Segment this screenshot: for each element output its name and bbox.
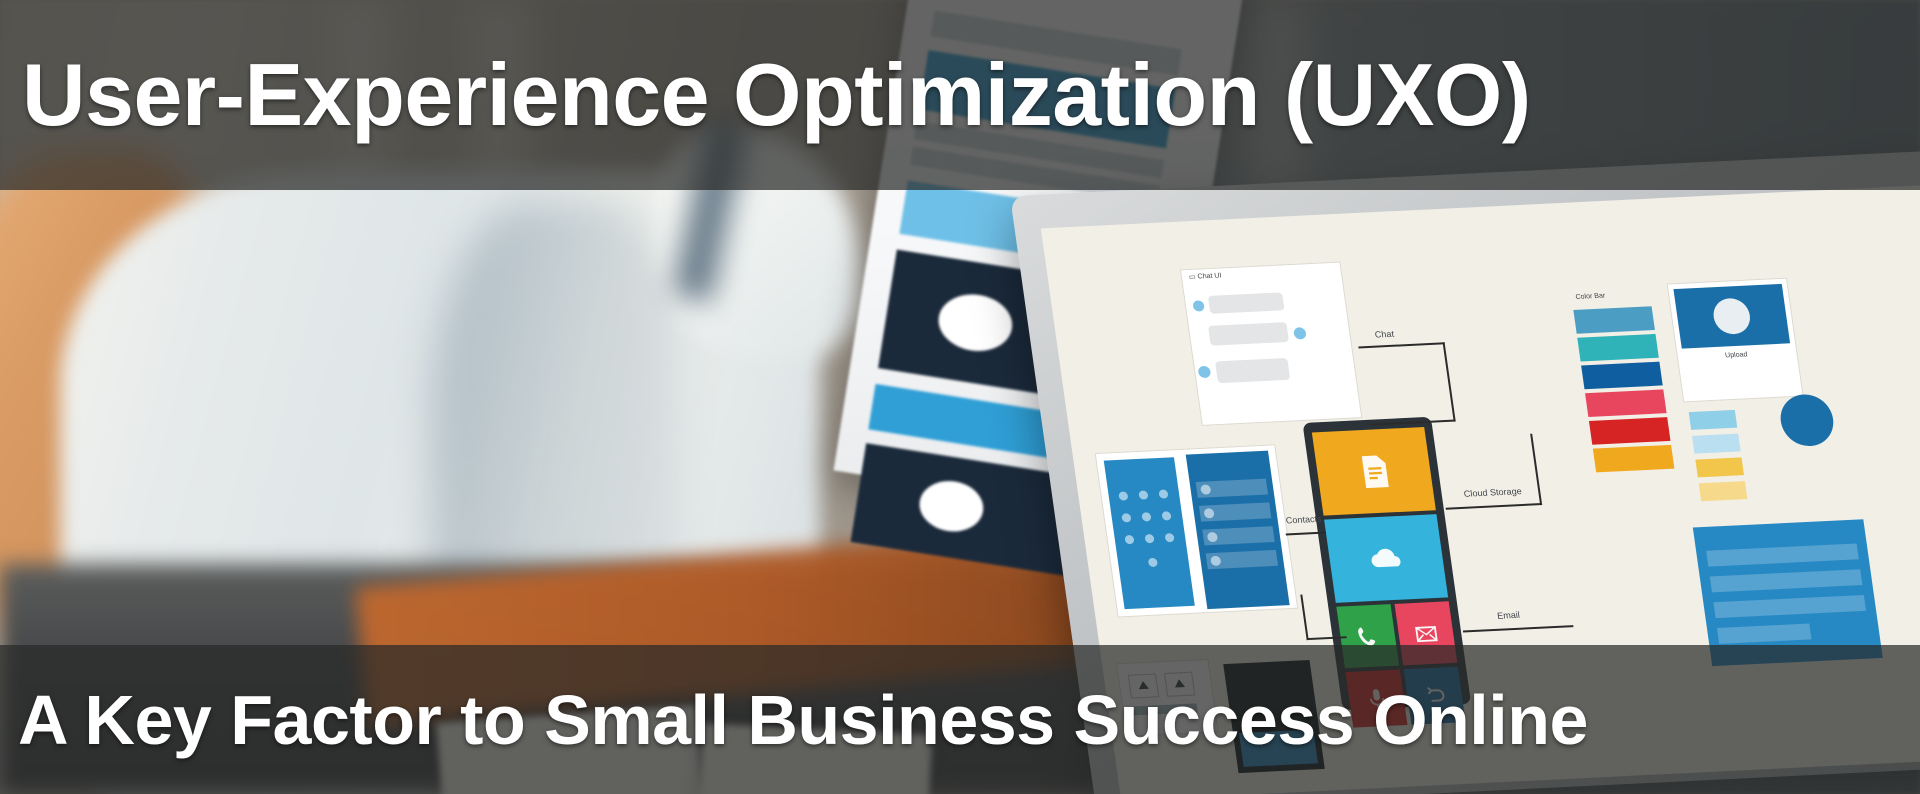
circle-icon-node — [1777, 393, 1836, 447]
top-title-banner: User-Experience Optimization (UXO) — [0, 0, 1920, 190]
color-swatch — [1581, 362, 1663, 390]
color-swatch — [1585, 389, 1667, 417]
mini-swatch — [1689, 410, 1738, 430]
page-title: User-Experience Optimization (UXO) — [22, 51, 1531, 139]
arrow-label-contacts: Contacts — [1285, 514, 1322, 526]
mini-swatch — [1695, 457, 1744, 477]
connector-line — [1530, 434, 1542, 505]
color-swatch — [1593, 445, 1675, 473]
page-subtitle: A Key Factor to Small Business Success O… — [18, 685, 1588, 755]
connector-line — [1446, 503, 1543, 510]
chat-bubble-1 — [1208, 292, 1285, 313]
note-icon — [1345, 451, 1402, 492]
chat-mockup-card — [1180, 262, 1362, 426]
color-swatch — [1577, 334, 1659, 362]
arrow-label-email: Email — [1496, 610, 1520, 621]
connector-line — [1443, 342, 1456, 421]
mini-swatch — [1692, 434, 1741, 454]
cloud-tile — [1324, 514, 1448, 603]
arrow-label-cloud: Cloud Storage — [1463, 486, 1522, 499]
bottom-subtitle-banner: A Key Factor to Small Business Success O… — [0, 645, 1920, 794]
color-swatch — [1589, 417, 1671, 445]
color-swatch — [1573, 306, 1655, 334]
notes-tile — [1312, 427, 1436, 516]
connector-line — [1358, 342, 1445, 348]
connector-line — [1463, 625, 1574, 632]
chat-bubble-3 — [1215, 358, 1290, 383]
chat-bubble-2 — [1208, 322, 1289, 346]
chat-card-label: ▭ Chat UI — [1188, 271, 1222, 281]
arrow-label-chat: Chat — [1374, 329, 1394, 340]
mini-swatch — [1699, 481, 1748, 501]
swatch-card-label: Color Bar — [1575, 293, 1606, 301]
hero-banner: ▭ Chat UI — [0, 0, 1920, 794]
mail-icon — [1411, 619, 1440, 648]
connector-line — [1300, 594, 1308, 640]
cloud-icon — [1358, 538, 1415, 579]
profile-card-label: Upload — [1725, 351, 1748, 359]
